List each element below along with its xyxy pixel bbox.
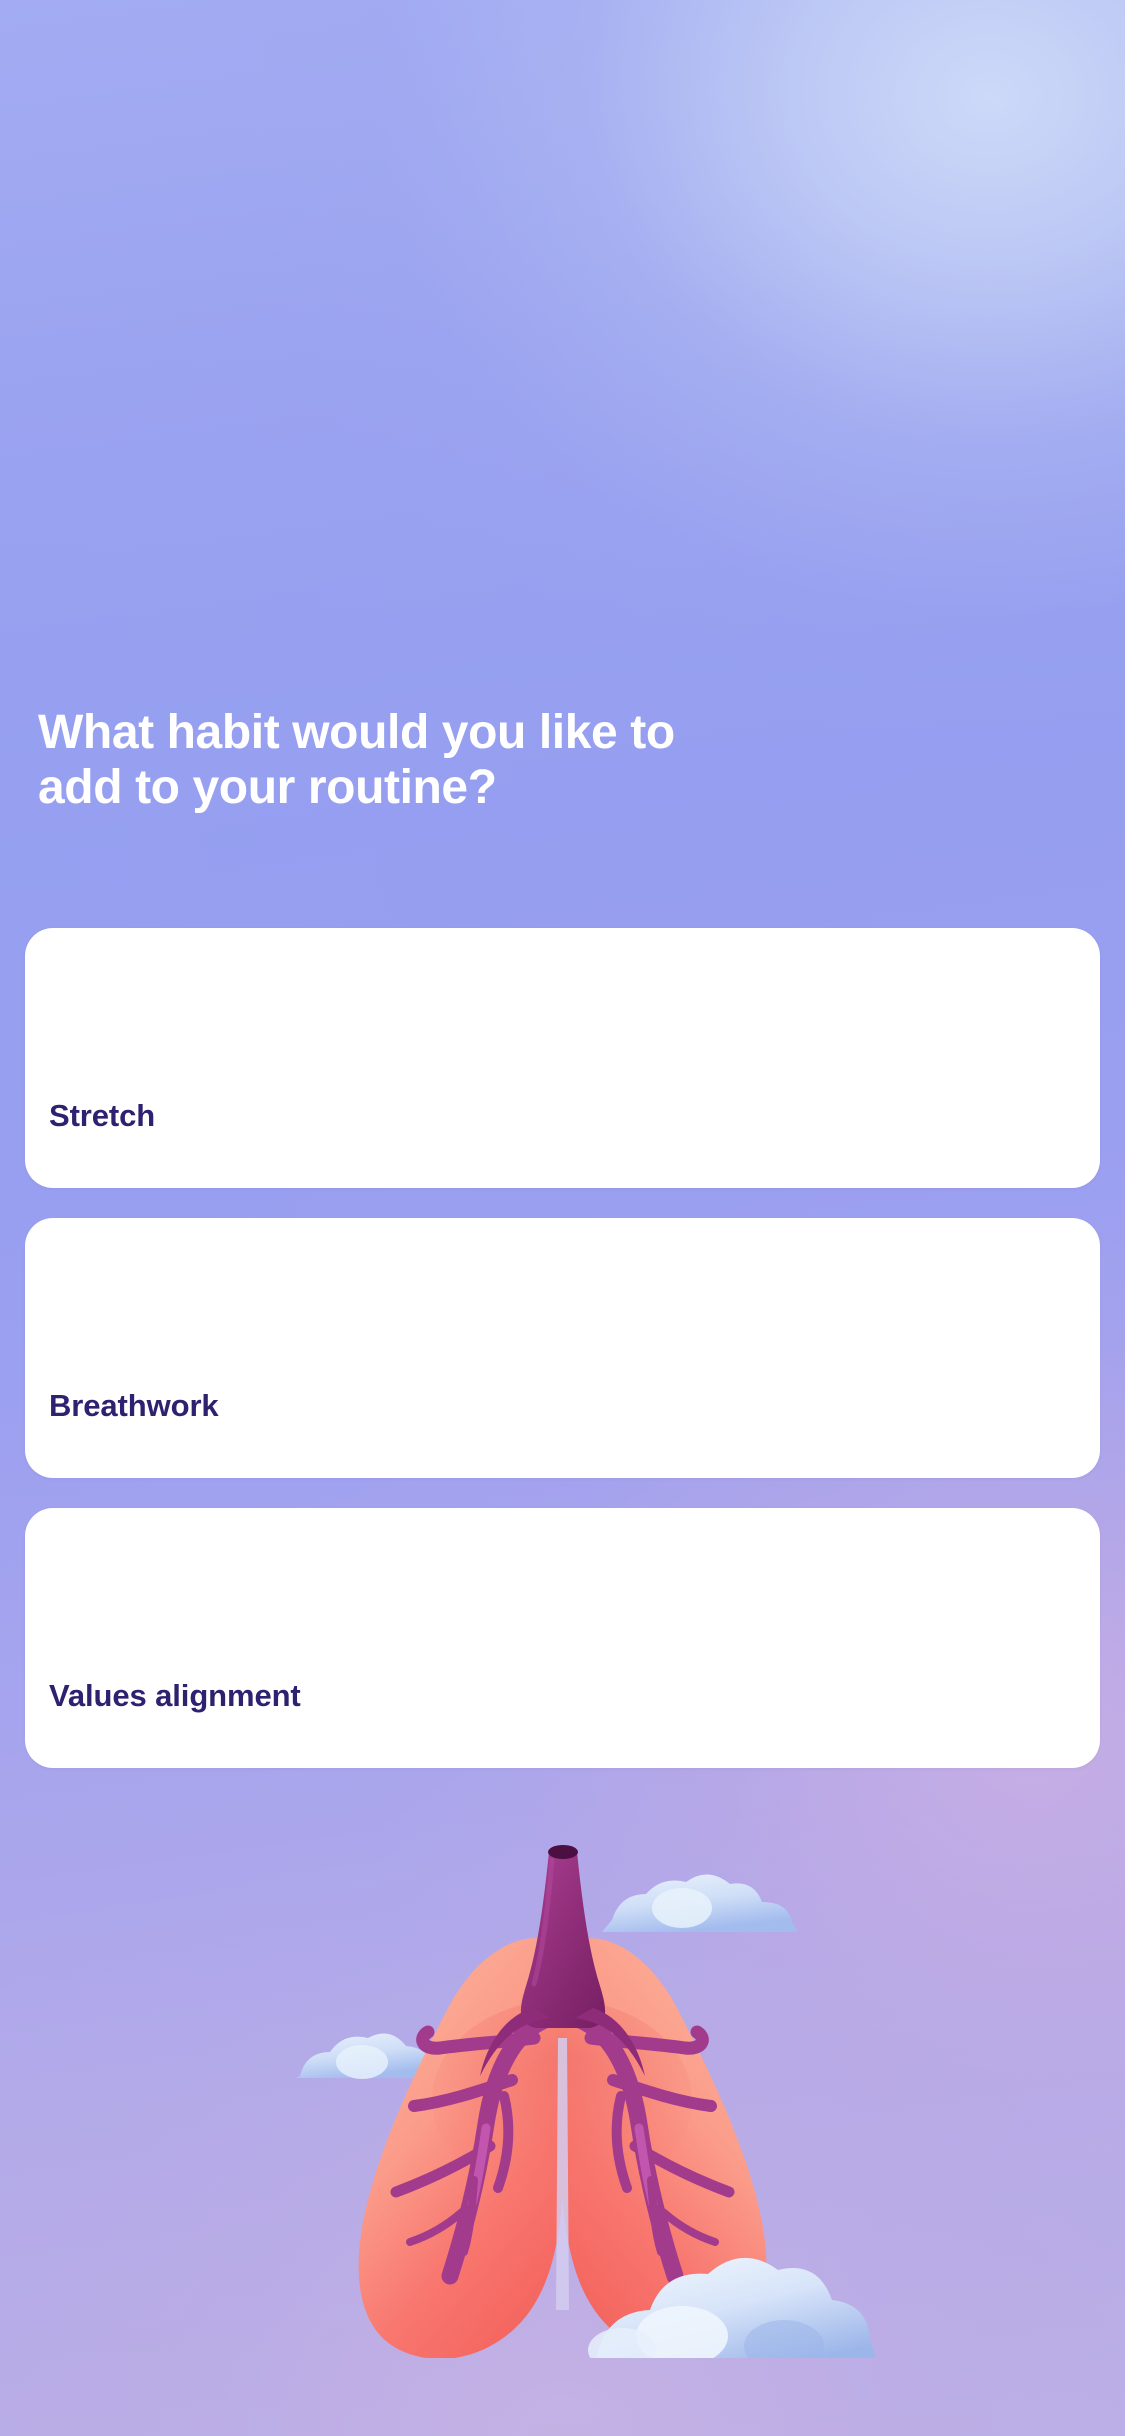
- lungs-illustration-graphic: [250, 1780, 875, 2358]
- options-list: Stretch Breathwork Values alignment: [25, 928, 1100, 1798]
- option-label: Values alignment: [49, 1678, 301, 1714]
- cloud-icon-left: [296, 2034, 436, 2080]
- option-card-breathwork[interactable]: Breathwork: [25, 1218, 1100, 1478]
- cloud-icon-upper-right: [602, 1874, 798, 1932]
- lungs-illustration: [250, 1780, 875, 2358]
- option-label: Stretch: [49, 1098, 155, 1134]
- option-card-stretch[interactable]: Stretch: [25, 928, 1100, 1188]
- option-label: Breathwork: [49, 1388, 219, 1424]
- trachea-opening: [548, 1845, 578, 1859]
- page-title: What habit would you like to add to your…: [38, 705, 1048, 815]
- option-card-values-alignment[interactable]: Values alignment: [25, 1508, 1100, 1768]
- app-screen: What habit would you like to add to your…: [0, 0, 1125, 2436]
